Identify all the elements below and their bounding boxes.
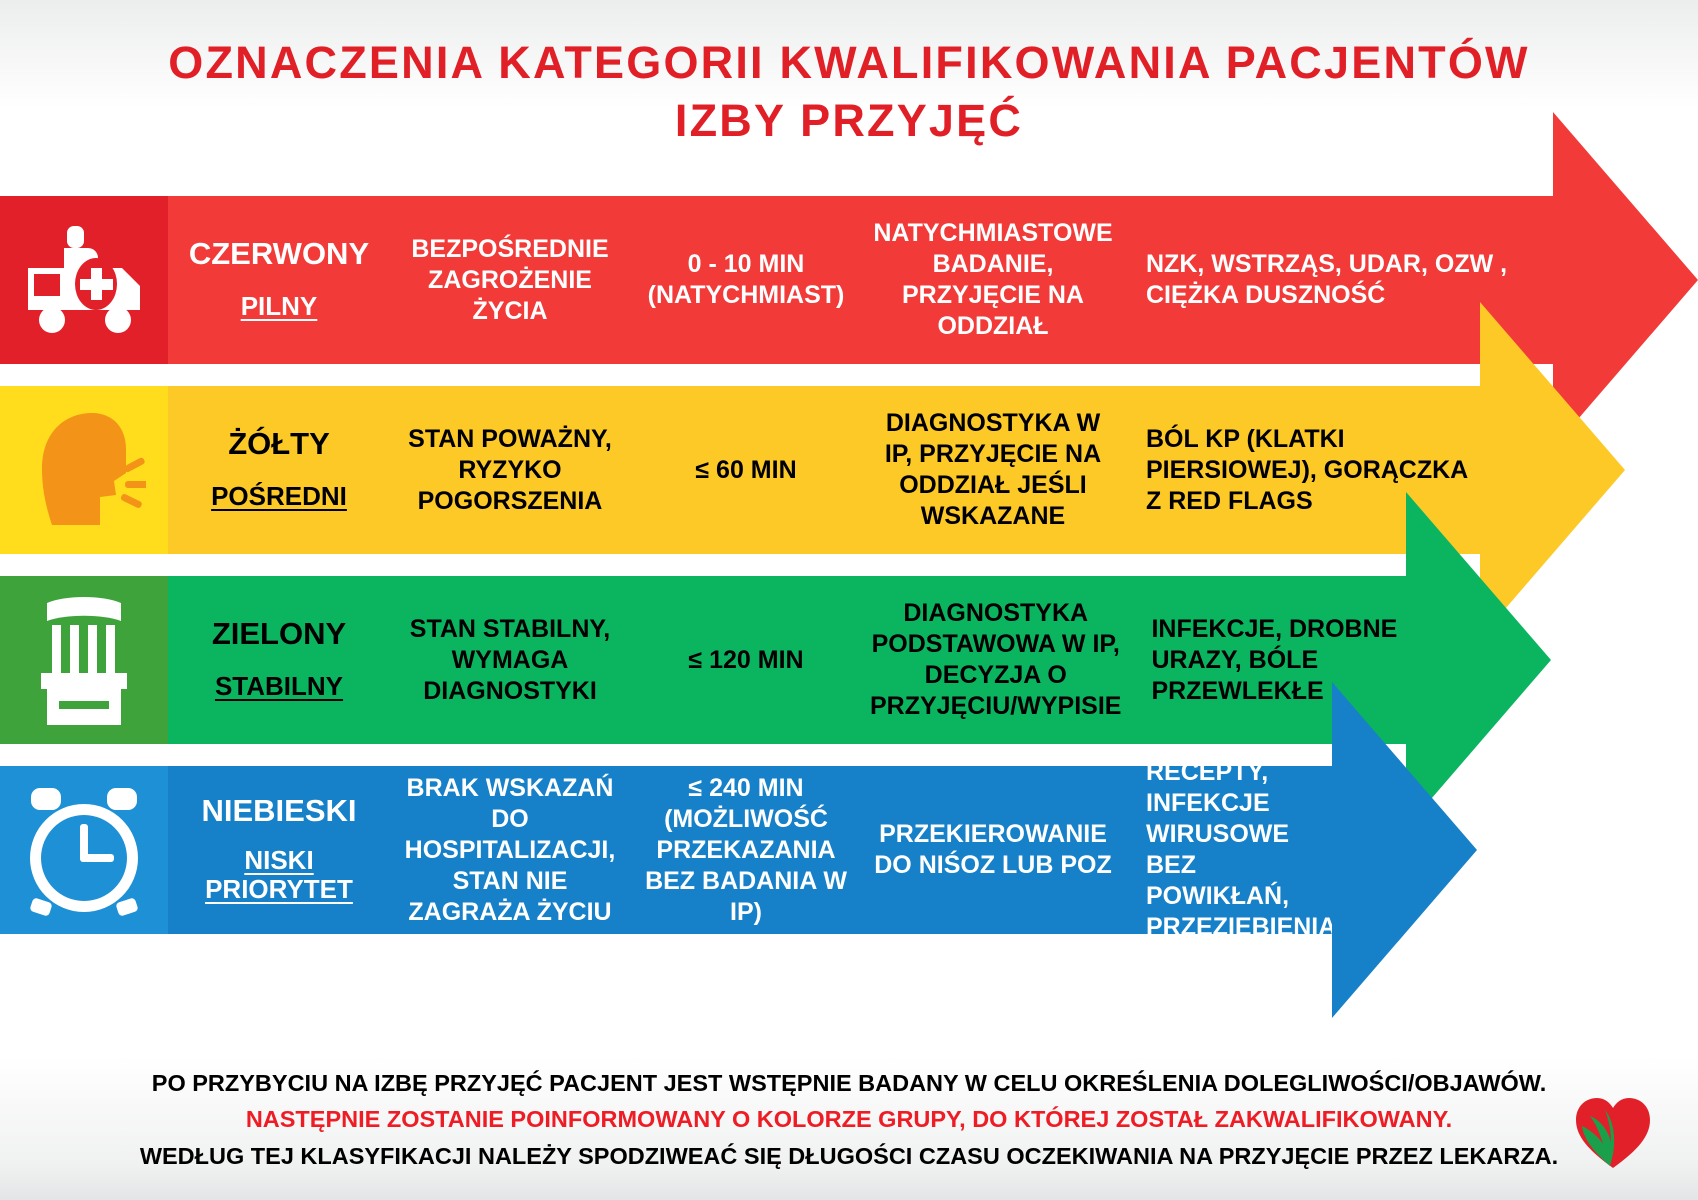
category-action: PRZEKIEROWANIE DO NIŚOZ LUB POZ bbox=[862, 819, 1124, 881]
footer-line-3: WEDŁUG TEJ KLASYFIKACJI NALEŻY SPODZIWEA… bbox=[0, 1138, 1698, 1174]
title-line-2: IZBY PRZYJĘĆ bbox=[0, 92, 1698, 150]
category-action: DIAGNOSTYKA W IP, PRZYJĘCIE NA ODDZIAŁ J… bbox=[862, 408, 1124, 532]
heart-leaf-logo bbox=[1570, 1092, 1656, 1172]
footer-line-1: PO PRZYBYCIU NA IZBĘ PRZYJĘĆ PACJENT JES… bbox=[0, 1065, 1698, 1101]
category-time: 0 - 10 MIN (NATYCHMIAST) bbox=[630, 249, 862, 311]
category-time: ≤ 240 MIN (MOŻLIWOŚĆ PRZEKAZANIA BEZ BAD… bbox=[630, 773, 862, 928]
triage-row-niebieski: NIEBIESKI NISKI PRIORYTET BRAK WSKAZAŃ D… bbox=[0, 766, 1698, 934]
title-line-1: OZNACZENIA KATEGORII KWALIFIKOWANIA PACJ… bbox=[0, 34, 1698, 92]
category-time: ≤ 120 MIN bbox=[630, 645, 862, 676]
category-description: BEZPOŚREDNIE ZAGROŻENIE ŻYCIA bbox=[390, 234, 630, 327]
footer-line-2: NASTĘPNIE ZOSTANIE POINFORMOWANY O KOLOR… bbox=[0, 1101, 1698, 1137]
category-action: DIAGNOSTYKA PODSTAWOWA W IP, DECYZJA O P… bbox=[862, 598, 1129, 722]
category-priority: STABILNY bbox=[215, 670, 343, 702]
triage-row-czerwony: CZERWONY PILNY BEZPOŚREDNIE ZAGROŻENIE Ż… bbox=[0, 196, 1698, 364]
category-description: BRAK WSKAZAŃ DO HOSPITALIZACJI, STAN NIE… bbox=[390, 773, 630, 928]
category-label-czerwony: CZERWONY PILNY bbox=[168, 235, 390, 325]
category-name: ZIELONY bbox=[176, 615, 382, 653]
footer-note: PO PRZYBYCIU NA IZBĘ PRZYJĘĆ PACJENT JES… bbox=[0, 1065, 1698, 1174]
category-name: ŻÓŁTY bbox=[176, 425, 382, 463]
category-label-zielony: ZIELONY STABILNY bbox=[168, 615, 390, 705]
category-examples: RECEPTY, INFEKCJE WIRUSOWE BEZ POWIKŁAŃ,… bbox=[1124, 757, 1344, 943]
category-time: ≤ 60 MIN bbox=[630, 455, 862, 486]
ambulance-icon bbox=[0, 196, 168, 364]
alarm-clock-icon bbox=[0, 766, 168, 934]
category-action: NATYCHMIASTOWE BADANIE, PRZYJĘCIE NA ODD… bbox=[862, 218, 1124, 342]
category-description: STAN POWAŻNY, RYZYKO POGORSZENIA bbox=[390, 424, 630, 517]
chair-icon bbox=[0, 576, 168, 744]
speaking-head-icon bbox=[0, 386, 168, 554]
category-name: NIEBIESKI bbox=[176, 792, 382, 830]
category-name: CZERWONY bbox=[176, 235, 382, 273]
arrow-head bbox=[1332, 682, 1477, 1018]
category-description: STAN STABILNY, WYMAGA DIAGNOSTYKI bbox=[390, 614, 630, 707]
triage-category-list: CZERWONY PILNY BEZPOŚREDNIE ZAGROŻENIE Ż… bbox=[0, 196, 1698, 956]
category-label-zolty: ŻÓŁTY POŚREDNI bbox=[168, 425, 390, 515]
page-title: OZNACZENIA KATEGORII KWALIFIKOWANIA PACJ… bbox=[0, 34, 1698, 149]
category-priority: PILNY bbox=[241, 290, 318, 322]
category-label-niebieski: NIEBIESKI NISKI PRIORYTET bbox=[168, 792, 390, 909]
category-priority: POŚREDNI bbox=[211, 480, 347, 512]
category-priority: NISKI PRIORYTET bbox=[176, 846, 382, 904]
